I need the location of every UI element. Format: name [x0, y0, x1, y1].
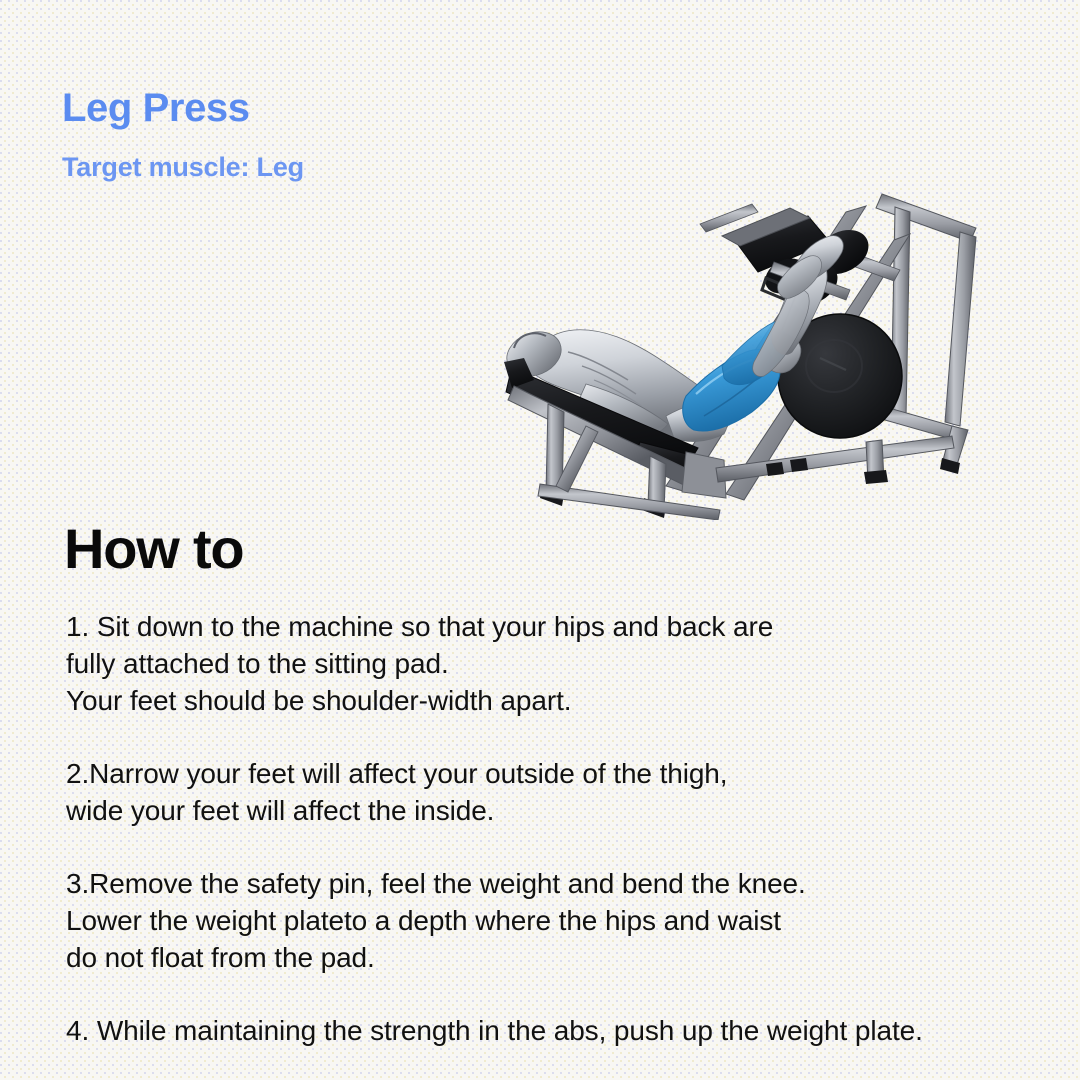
step-2-line-1: 2.Narrow your feet will affect your outs…	[66, 755, 1046, 792]
step-2: 2.Narrow your feet will affect your outs…	[66, 755, 1046, 829]
step-3-line-3: do not float from the pad.	[66, 939, 1046, 976]
step-3-line-2: Lower the weight plateto a depth where t…	[66, 902, 1046, 939]
step-1-line-2: fully attached to the sitting pad.	[66, 645, 1046, 682]
step-1-line-3: Your feet should be shoulder-width apart…	[66, 682, 1046, 719]
exercise-info-card: Leg Press Target muscle: Leg	[0, 0, 1080, 1080]
howto-steps: 1. Sit down to the machine so that your …	[66, 608, 1046, 1049]
step-1: 1. Sit down to the machine so that your …	[66, 608, 1046, 719]
step-1-line-1: 1. Sit down to the machine so that your …	[66, 608, 1046, 645]
machine-rear-frame	[876, 194, 976, 474]
page-title: Leg Press	[62, 88, 304, 128]
howto-heading: How to	[64, 521, 243, 577]
step-4-line-1: 4. While maintaining the strength in the…	[66, 1012, 1046, 1049]
step-3: 3.Remove the safety pin, feel the weight…	[66, 865, 1046, 976]
step-4: 4. While maintaining the strength in the…	[66, 1012, 1046, 1049]
header: Leg Press Target muscle: Leg	[62, 88, 304, 181]
target-muscle-subtitle: Target muscle: Leg	[62, 128, 304, 181]
step-2-line-2: wide your feet will affect the inside.	[66, 792, 1046, 829]
step-3-line-1: 3.Remove the safety pin, feel the weight…	[66, 865, 1046, 902]
leg-press-machine-illustration	[490, 180, 990, 520]
